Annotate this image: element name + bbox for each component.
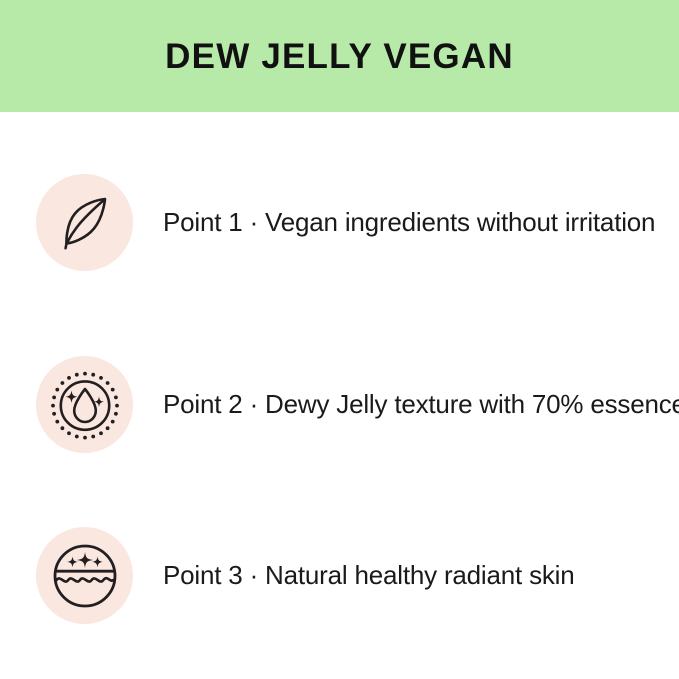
- feature-row-2: Point 2 · Dewy Jelly texture with 70% es…: [0, 356, 679, 453]
- feature-text-1: Point 1 · Vegan ingredients without irri…: [163, 207, 655, 238]
- feature-row-1: Point 1 · Vegan ingredients without irri…: [0, 174, 679, 271]
- water-droplet-sparkle-icon: [50, 370, 120, 440]
- radiant-skin-icon-badge: [36, 527, 133, 624]
- product-feature-banner: DEW JELLY VEGAN Point 1 · Vegan ingredie…: [0, 0, 679, 679]
- water-droplet-sparkle-icon-badge: [36, 356, 133, 453]
- sparkle-left-icon: [67, 556, 78, 567]
- wave-line: [56, 578, 113, 581]
- sparkle-right-icon: [92, 556, 103, 567]
- header-band: DEW JELLY VEGAN: [0, 0, 679, 112]
- feature-text-3: Point 3 · Natural healthy radiant skin: [163, 560, 575, 591]
- radiant-skin-icon: [52, 543, 118, 609]
- sparkle-center-icon: [77, 552, 93, 568]
- feature-row-3: Point 3 · Natural healthy radiant skin: [0, 527, 679, 624]
- leaf-icon-badge: [36, 174, 133, 271]
- leaf-icon: [54, 192, 116, 254]
- feature-list: Point 1 · Vegan ingredients without irri…: [0, 112, 679, 679]
- feature-text-2: Point 2 · Dewy Jelly texture with 70% es…: [163, 389, 679, 420]
- droplet-shape: [74, 389, 96, 422]
- page-title: DEW JELLY VEGAN: [165, 39, 514, 74]
